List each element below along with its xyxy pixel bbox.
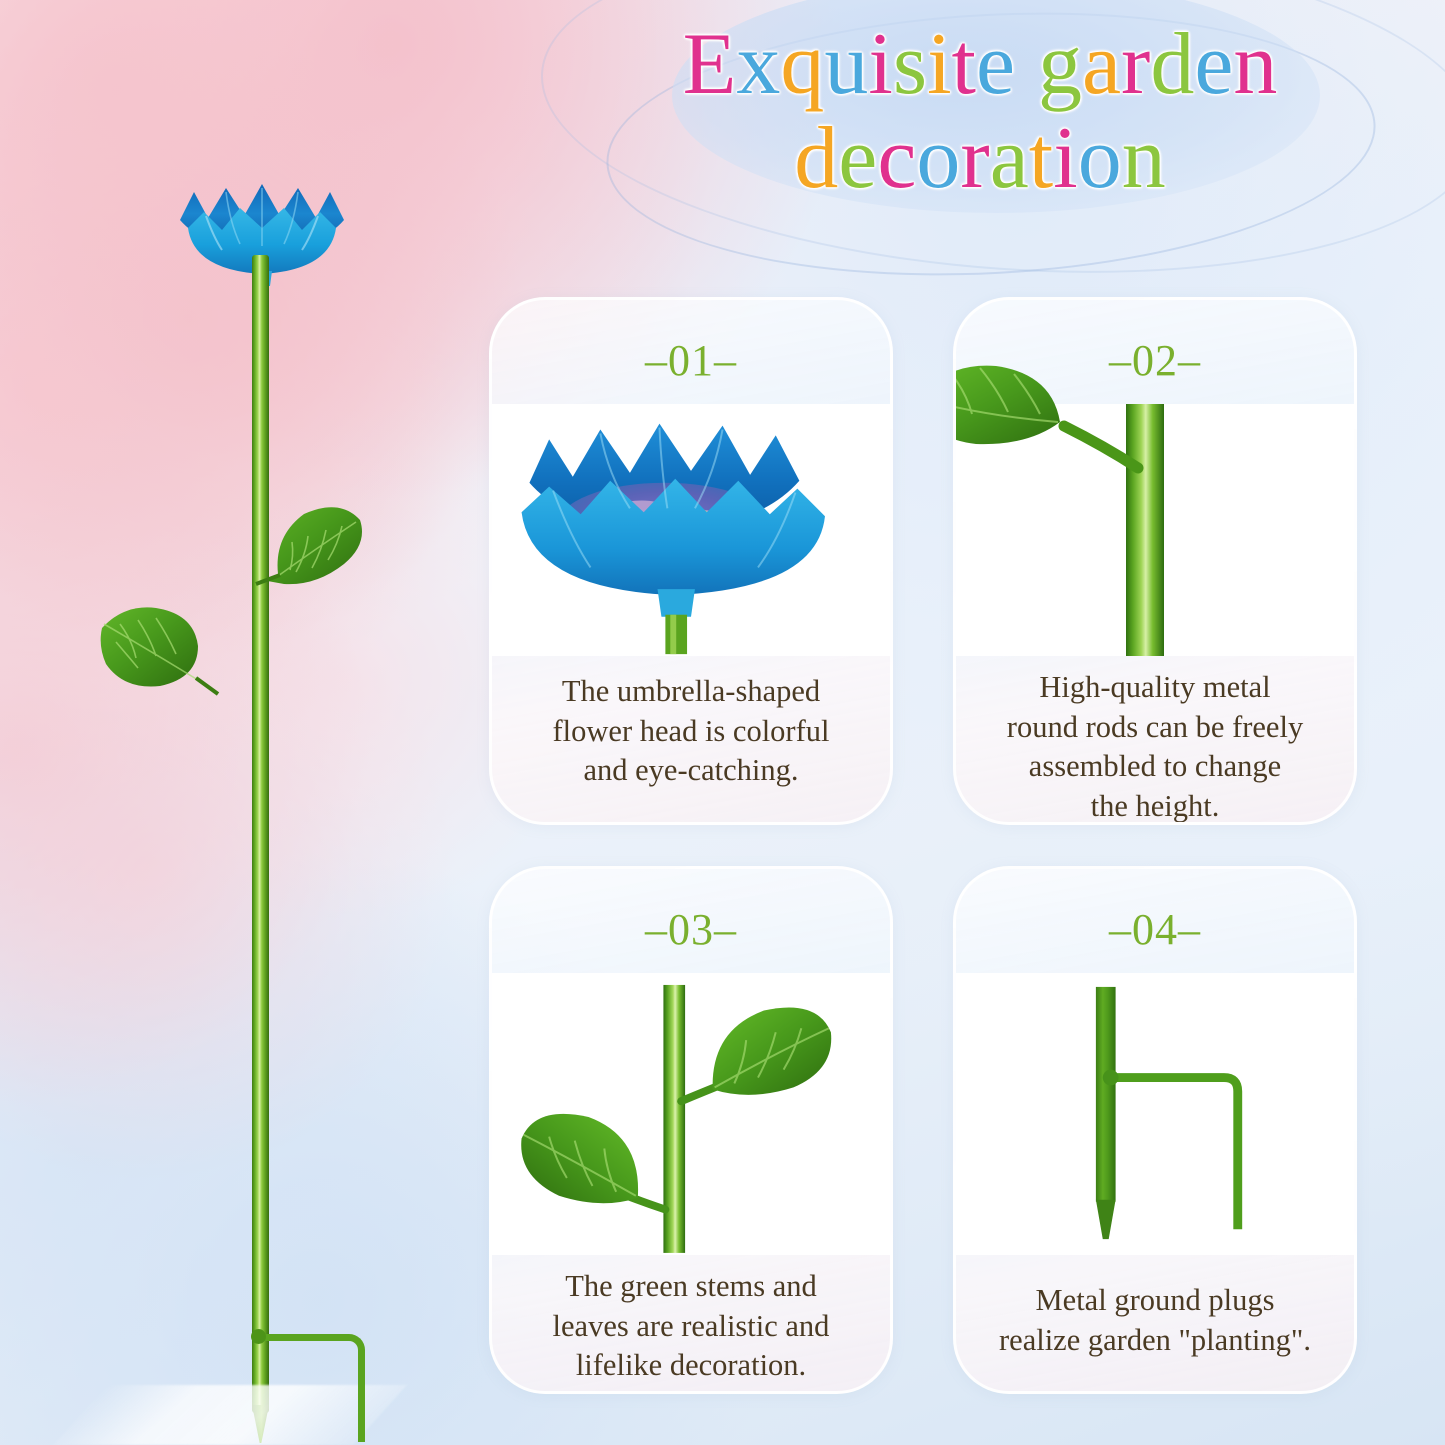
page-title: Exquisite garden decoration [540, 22, 1420, 202]
title-letter: e [976, 22, 1015, 108]
card-caption-04: Metal ground plugs realize garden "plant… [970, 1281, 1340, 1360]
feature-card-04[interactable]: –04– Metal ground plugs realize garden "… [953, 866, 1357, 1394]
hero-stake-joint [251, 1329, 266, 1344]
title-letter: g [1038, 22, 1082, 108]
card-photo-03 [492, 973, 890, 1255]
card-caption-02: High-quality metal round rods can be fre… [970, 668, 1340, 825]
title-letter: e [838, 116, 877, 202]
title-letter: q [780, 22, 824, 108]
hero-stake-arm [260, 1334, 365, 1442]
title-letter: n [1233, 22, 1277, 108]
title-letter: i [927, 22, 951, 108]
title-space [1015, 22, 1038, 108]
title-letter: c [877, 116, 916, 202]
title-letter: r [1121, 22, 1150, 108]
title-letter: d [1150, 22, 1194, 108]
title-letter: E [683, 22, 737, 108]
card-number-04: –04– [956, 904, 1354, 955]
title-letter: d [794, 116, 838, 202]
feature-card-03[interactable]: –03– [489, 866, 893, 1394]
card-caption-01: The umbrella-shaped flower head is color… [506, 672, 876, 791]
page-title-line-1: Exquisite garden [540, 22, 1420, 108]
page-title-line-2: decoration [540, 116, 1420, 202]
hero-leaf-lower-left [98, 602, 216, 702]
title-letter: i [868, 22, 892, 108]
title-letter: r [960, 116, 989, 202]
title-letter: t [1029, 116, 1053, 202]
title-letter: a [1082, 22, 1121, 108]
card-photo-01 [492, 404, 890, 656]
card-caption-03: The green stems and leaves are realistic… [506, 1267, 876, 1386]
card-number-03: –03– [492, 904, 890, 955]
title-letter: i [1053, 116, 1077, 202]
title-letter: t [952, 22, 976, 108]
hero-stem [252, 255, 269, 1413]
title-letter: s [893, 22, 927, 108]
hero-product-image [60, 150, 450, 1420]
title-letter: u [824, 22, 868, 108]
title-letter: n [1122, 116, 1166, 202]
hero-leaf-upper-right [256, 502, 366, 598]
feature-card-01[interactable]: –01– [489, 297, 893, 825]
title-letter: a [990, 116, 1029, 202]
feature-card-02[interactable]: –02– High-quality metal round rods can b… [953, 297, 1357, 825]
title-letter: o [916, 116, 960, 202]
title-letter: o [1078, 116, 1122, 202]
title-letter: x [736, 22, 780, 108]
card-number-01: –01– [492, 335, 890, 386]
title-letter: e [1194, 22, 1233, 108]
card-photo-04 [956, 973, 1354, 1255]
card-number-02: –02– [956, 335, 1354, 386]
